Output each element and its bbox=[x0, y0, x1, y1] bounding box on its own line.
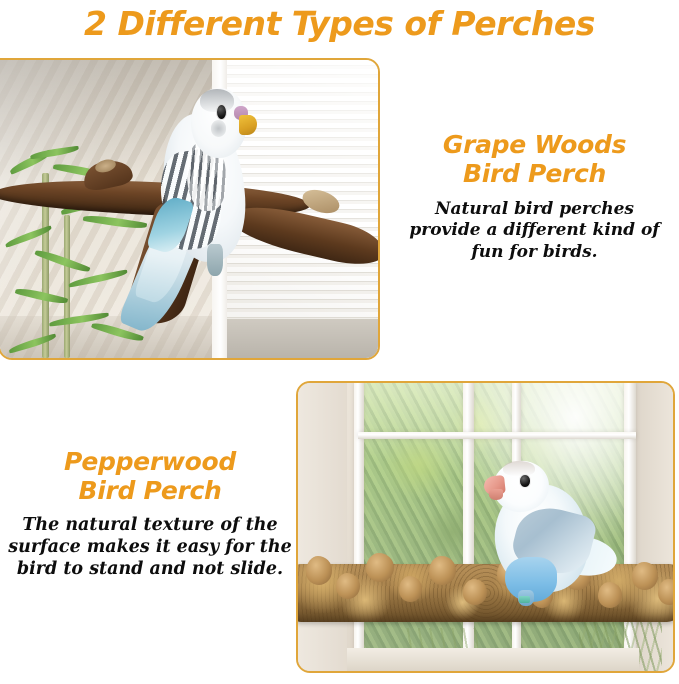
text-block-pepperwood: Pepperwood Bird Perch The natural textur… bbox=[4, 447, 296, 581]
perch-knob bbox=[366, 553, 394, 582]
text-block-grape-woods: Grape Woods Bird Perch Natural bird perc… bbox=[390, 130, 679, 264]
heading-line-2: Bird Perch bbox=[390, 159, 679, 188]
bird-beak bbox=[239, 115, 257, 136]
perch-knob bbox=[336, 573, 360, 599]
photo-pepperwood-perch bbox=[296, 381, 675, 673]
photo-grape-woods-perch bbox=[0, 58, 380, 360]
heading-pepperwood: Pepperwood Bird Perch bbox=[4, 447, 296, 506]
blinds-bottom-rail bbox=[227, 319, 378, 358]
page-title: 2 Different Types of Perches bbox=[0, 4, 679, 43]
bird-crown bbox=[503, 461, 535, 476]
heading-line-1: Grape Woods bbox=[390, 130, 679, 159]
bird-eye bbox=[519, 474, 531, 487]
budgie-bird bbox=[136, 81, 265, 313]
wall-left-panel bbox=[298, 383, 347, 671]
window-sill bbox=[347, 648, 640, 671]
perch-knob bbox=[658, 579, 673, 605]
heading-line-2: Bird Perch bbox=[4, 476, 296, 505]
scene-grape-woods bbox=[0, 60, 378, 358]
perch-knob bbox=[463, 579, 487, 605]
window-mullion-horizontal bbox=[358, 432, 636, 439]
perch-knob bbox=[632, 562, 658, 591]
heading-grape-woods: Grape Woods Bird Perch bbox=[390, 130, 679, 189]
heading-line-1: Pepperwood bbox=[4, 447, 296, 476]
perch-knob bbox=[429, 556, 455, 585]
bird-lower-beak bbox=[489, 489, 503, 499]
scene-pepperwood bbox=[298, 383, 673, 671]
perch-knob bbox=[306, 556, 332, 585]
description-pepperwood: The natural texture of the surface makes… bbox=[4, 514, 296, 581]
bird-cheek-patch bbox=[211, 120, 226, 136]
description-grape-woods: Natural bird perches provide a different… bbox=[390, 199, 679, 264]
bird-foot bbox=[207, 244, 224, 277]
window-mullion-vertical bbox=[354, 383, 364, 671]
lovebird bbox=[486, 458, 610, 608]
floor-area bbox=[0, 316, 219, 358]
bird-leg-band bbox=[519, 596, 530, 603]
infographic-page: 2 Different Types of Perches bbox=[0, 0, 679, 684]
perch-knob bbox=[399, 576, 422, 602]
